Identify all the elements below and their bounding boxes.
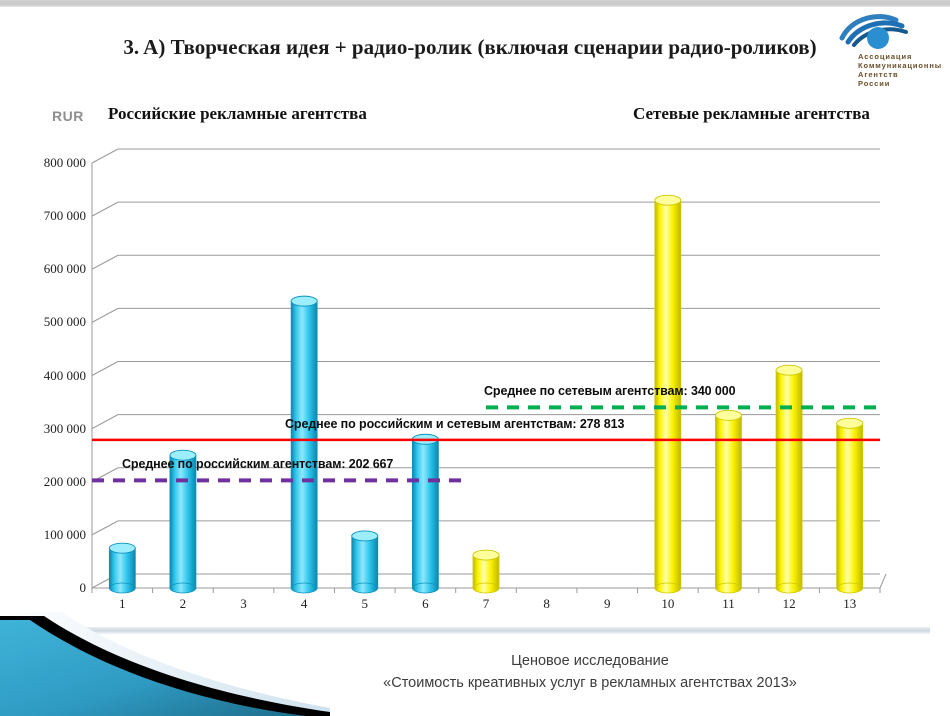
bar-7 bbox=[473, 550, 499, 593]
x-tick-1: 1 bbox=[119, 596, 126, 612]
plot-area bbox=[0, 0, 950, 716]
x-tick-2: 2 bbox=[180, 596, 187, 612]
x-tick-12: 12 bbox=[783, 596, 796, 612]
x-tick-8: 8 bbox=[543, 596, 550, 612]
decorative-corner-swoosh bbox=[0, 612, 330, 716]
footer-text: Ценовое исследование «Стоимость креативн… bbox=[330, 650, 850, 694]
x-tick-5: 5 bbox=[362, 596, 369, 612]
bar-4 bbox=[291, 296, 317, 593]
footer-line-2: «Стоимость креативных услуг в рекламных … bbox=[330, 672, 850, 694]
x-tick-3: 3 bbox=[240, 596, 247, 612]
x-tick-13: 13 bbox=[843, 596, 856, 612]
reference-label-overall-mean: Среднее по российским и сетевым агентств… bbox=[285, 417, 624, 431]
bar-5 bbox=[352, 531, 378, 593]
x-tick-9: 9 bbox=[604, 596, 611, 612]
bar-chart: 0100 000200 000300 000400 000500 000600 … bbox=[0, 0, 950, 716]
bar-2 bbox=[170, 450, 196, 593]
x-tick-4: 4 bbox=[301, 596, 308, 612]
bar-11 bbox=[715, 410, 741, 593]
bar-13 bbox=[837, 418, 863, 593]
bar-12 bbox=[776, 365, 802, 593]
footer-line-1: Ценовое исследование bbox=[330, 650, 850, 672]
bar-1 bbox=[109, 543, 135, 593]
reference-label-russian-mean: Среднее по российским агентствам: 202 66… bbox=[122, 457, 393, 471]
bar-6 bbox=[412, 434, 438, 593]
x-tick-7: 7 bbox=[483, 596, 490, 612]
x-tick-11: 11 bbox=[722, 596, 735, 612]
x-tick-10: 10 bbox=[661, 596, 674, 612]
x-tick-6: 6 bbox=[422, 596, 429, 612]
reference-label-network-mean: Среднее по сетевым агентствам: 340 000 bbox=[484, 384, 735, 398]
